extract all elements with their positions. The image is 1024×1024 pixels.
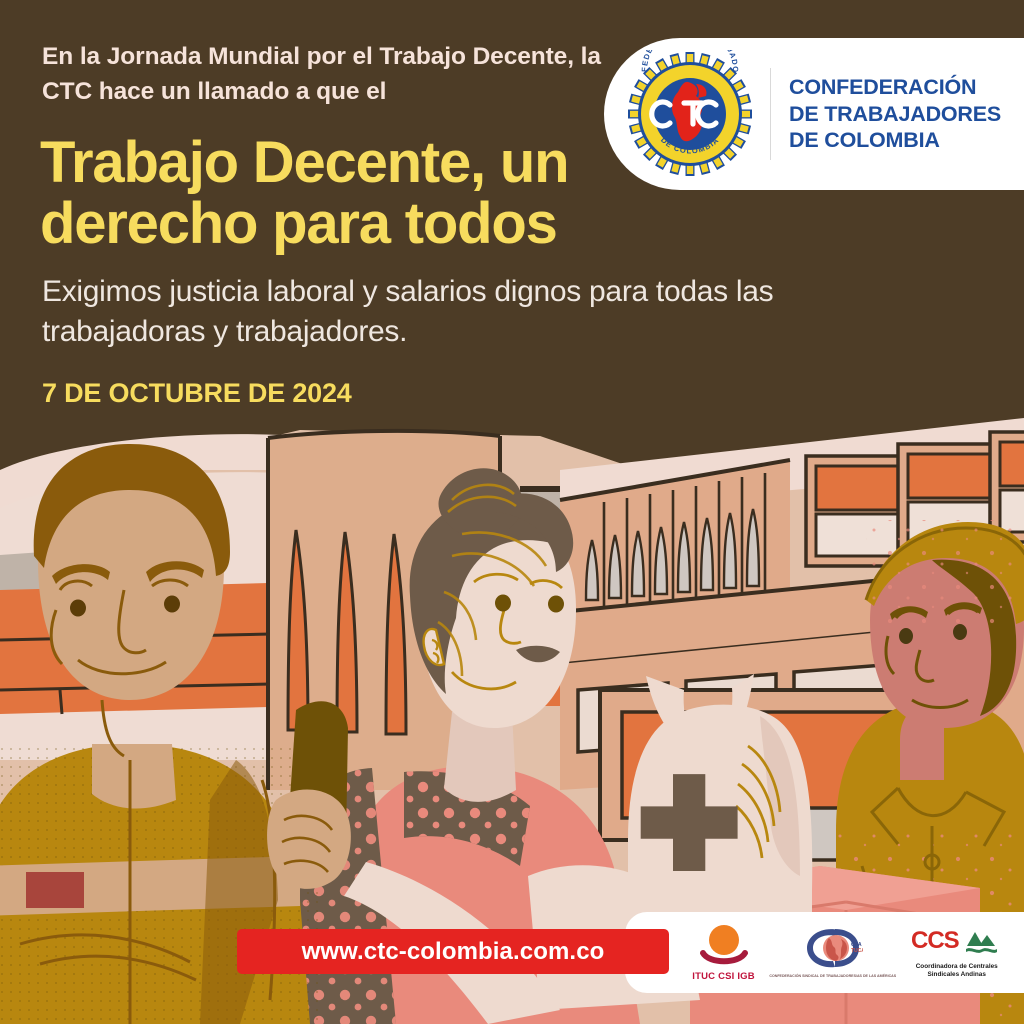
event-date: 7 DE OCTUBRE DE 2024: [42, 378, 352, 409]
ctc-gear-emblem-icon: CONFEDERACIÓN DE TRABAJADORES DE COLOMBI…: [626, 50, 754, 178]
left-man-red-patch: [26, 872, 84, 908]
ccs-caption-line-1: Coordinadora de Centrales: [916, 963, 998, 971]
partner-logos-panel: ITUC CSI IGB CSA TUCA CONFEDERACIÓN SIND…: [625, 912, 1024, 993]
page-title: Trabajo Decente, un derecho para todos: [40, 132, 640, 255]
csa-csi-americas-logo: CSA TUCA CONFEDERACIÓN SINDICAL DE TRABA…: [769, 926, 896, 978]
svg-text:TUCA: TUCA: [851, 948, 863, 954]
logo-line-3: DE COLOMBIA: [789, 127, 1001, 154]
svg-text:CCS: CCS: [911, 927, 960, 954]
poster-canvas: En la Jornada Mundial por el Trabajo Dec…: [0, 0, 1024, 1024]
logo-line-1: CONFEDERACIÓN: [789, 74, 1001, 101]
csa-caption: CONFEDERACIÓN SINDICAL DE TRABAJADORES/A…: [769, 974, 896, 978]
ccs-caption: Coordinadora de Centrales Sindicales And…: [916, 963, 998, 979]
left-man-neck: [92, 744, 176, 809]
ituc-label: ITUC CSI IGB: [692, 971, 755, 982]
ituc-mark-icon: [696, 923, 752, 969]
ctc-logo-panel: CONFEDERACIÓN DE TRABAJADORES DE COLOMBI…: [604, 38, 1024, 190]
logo-line-2: DE TRABAJADORES: [789, 101, 1001, 128]
logo-wordmark: CONFEDERACIÓN DE TRABAJADORES DE COLOMBI…: [789, 74, 1001, 154]
ccs-caption-line-2: Sindicales Andinas: [916, 971, 998, 979]
website-url-bar[interactable]: www.ctc-colombia.com.co: [237, 929, 669, 974]
kicker-text: En la Jornada Mundial por el Trabajo Dec…: [42, 40, 622, 110]
ccs-mark-icon: CCS: [911, 926, 1003, 962]
ituc-csi-igb-logo: ITUC CSI IGB: [692, 923, 755, 982]
ccs-andinas-logo: CCS Coordinadora de Centrales Sindicales…: [911, 926, 1003, 979]
logo-divider: [770, 68, 771, 160]
subhead-text: Exigimos justicia laboral y salarios dig…: [42, 272, 882, 352]
csa-globe-icon: CSA TUCA: [803, 926, 863, 972]
website-url-text: www.ctc-colombia.com.co: [302, 938, 605, 966]
andes-mountains-icon: [966, 932, 997, 953]
